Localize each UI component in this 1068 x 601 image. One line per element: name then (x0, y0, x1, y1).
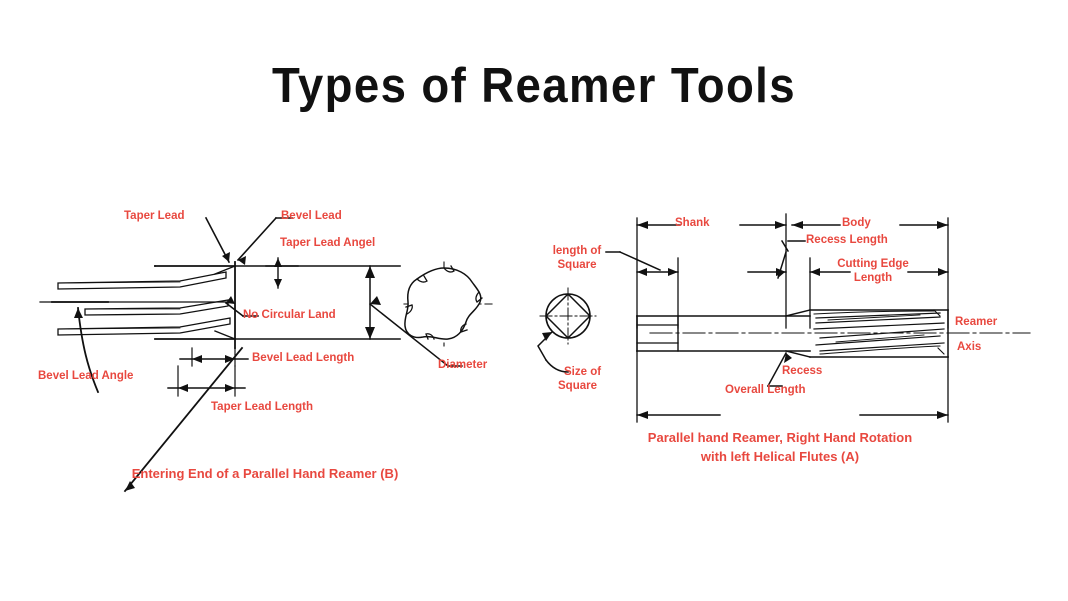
cross-section-outline (405, 268, 481, 339)
page-root: Types of Reamer Tools (0, 0, 1068, 601)
label-diameter: Diameter (438, 359, 487, 373)
label-taper-lead-length: Taper Lead Length (211, 401, 313, 415)
recess-taper-top (786, 310, 810, 316)
label-reamer-axis-line2: Axis (957, 341, 981, 355)
label-taper-lead: Taper Lead (124, 210, 185, 224)
label-recess: Recess (782, 365, 822, 379)
label-bevel-lead: Bevel Lead (281, 210, 342, 224)
diameter-arrow (370, 296, 381, 305)
label-size-of-square-line1: Size of (564, 366, 601, 380)
helical-flutes (814, 310, 944, 354)
label-cutting-edge-length-line2: Length (836, 272, 910, 286)
label-overall-length: Overall Length (725, 384, 806, 398)
label-bevel-lead-length: Bevel Lead Length (252, 352, 354, 366)
label-cutting-edge-length-line1: Cutting Edge (836, 258, 910, 272)
flute-1 (58, 272, 226, 289)
page-title: Types of Reamer Tools (37, 58, 1030, 114)
figure-a-caption-line1: Parallel hand Reamer, Right Hand Rotatio… (550, 428, 1010, 447)
bevel-angle-arc-arrow (74, 308, 83, 318)
figure-a-panel: Shank Body length of Square Recess Lengt… (520, 196, 1040, 496)
recess-length-leader-hook (782, 241, 788, 251)
length-of-square-leader (620, 252, 660, 270)
taper-lead-angle-dimension (266, 258, 298, 288)
label-reamer-axis-line1: Reamer (955, 316, 997, 330)
bevel-edge-lower (215, 331, 235, 339)
figure-a-caption-line2: with left Helical Flutes (A) (550, 447, 1010, 466)
square-section-detail (538, 288, 596, 372)
label-shank: Shank (675, 217, 710, 231)
label-body: Body (842, 217, 871, 231)
label-length-of-square-line1: length of (546, 245, 608, 259)
label-recess-length: Recess Length (806, 234, 888, 248)
bevel-lead-length-dimension (180, 348, 248, 366)
label-length-of-square-line2: Square (546, 259, 608, 273)
label-bevel-lead-angle: Bevel Lead Angle (38, 370, 133, 384)
bevel-lead-leader (238, 218, 276, 260)
figure-b-panel: Taper Lead Bevel Lead Taper Lead Angel N… (30, 196, 500, 496)
cross-section-view (404, 262, 492, 346)
label-size-of-square-line2: Square (558, 380, 597, 394)
flute-group (58, 272, 230, 335)
figure-b-drawing (30, 196, 500, 496)
label-taper-lead-angle: Taper Lead Angel (280, 237, 375, 251)
figure-b-caption: Entering End of a Parallel Hand Reamer (… (30, 464, 500, 483)
bevel-lead-arrow (238, 256, 246, 265)
label-no-circular-land: No Circular Land (243, 309, 336, 323)
taper-lead-arrow (222, 252, 230, 262)
flute-3 (58, 318, 230, 335)
